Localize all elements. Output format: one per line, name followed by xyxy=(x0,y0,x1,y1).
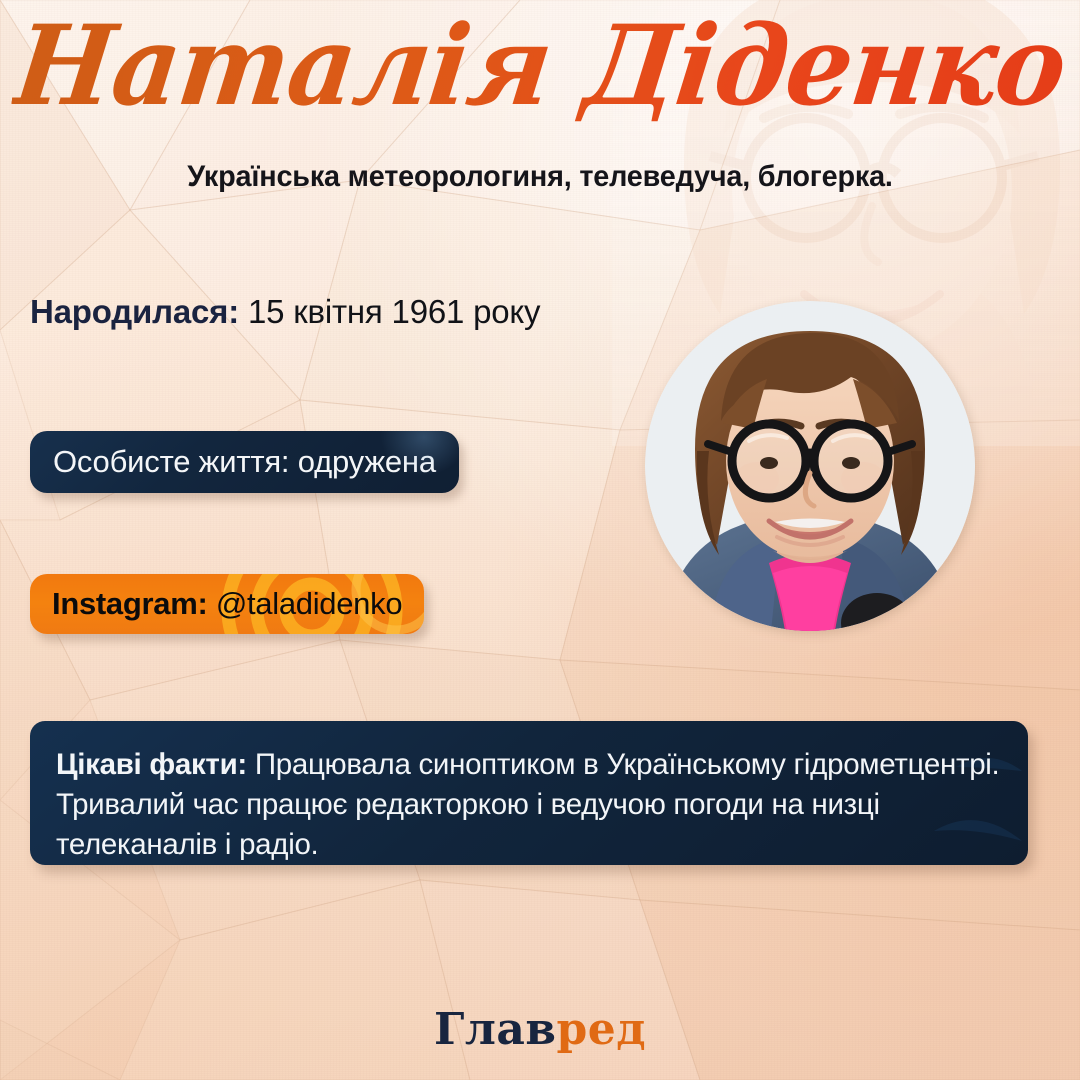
born-line: Народилася: 15 квітня 1961 року xyxy=(30,293,540,331)
personal-life-pill: Особисте життя: одружена xyxy=(30,431,459,493)
title-block: Наталія Діденко xyxy=(0,12,1080,120)
portrait-photo-icon xyxy=(645,301,975,631)
facts-label: Цікаві факти: xyxy=(56,748,247,781)
avatar xyxy=(645,301,975,631)
facts-text: Цікаві факти: Працювала синоптиком в Укр… xyxy=(56,745,1002,865)
infographic-card: Наталія Діденко Українська метеорологиня… xyxy=(0,0,1080,1080)
instagram-text: Instagram: @taladidenko xyxy=(52,586,402,622)
logo-part-one: Глав xyxy=(434,1004,556,1055)
page-title: Наталія Діденко xyxy=(9,9,1072,124)
logo-part-two: ред xyxy=(556,1004,646,1055)
born-label: Народилася: xyxy=(30,293,239,330)
personal-life-text: Особисте життя: одружена xyxy=(53,444,436,480)
brand-logo[interactable]: Главред xyxy=(0,1004,1080,1055)
page-subtitle: Українська метеорологиня, телеведуча, бл… xyxy=(22,160,1059,194)
instagram-label: Instagram: xyxy=(52,586,207,621)
instagram-handle: @taladidenko xyxy=(216,586,402,621)
born-value: 15 квітня 1961 року xyxy=(248,293,540,330)
instagram-pill[interactable]: Instagram: @taladidenko xyxy=(30,574,424,634)
facts-box: Цікаві факти: Працювала синоптиком в Укр… xyxy=(30,721,1028,865)
